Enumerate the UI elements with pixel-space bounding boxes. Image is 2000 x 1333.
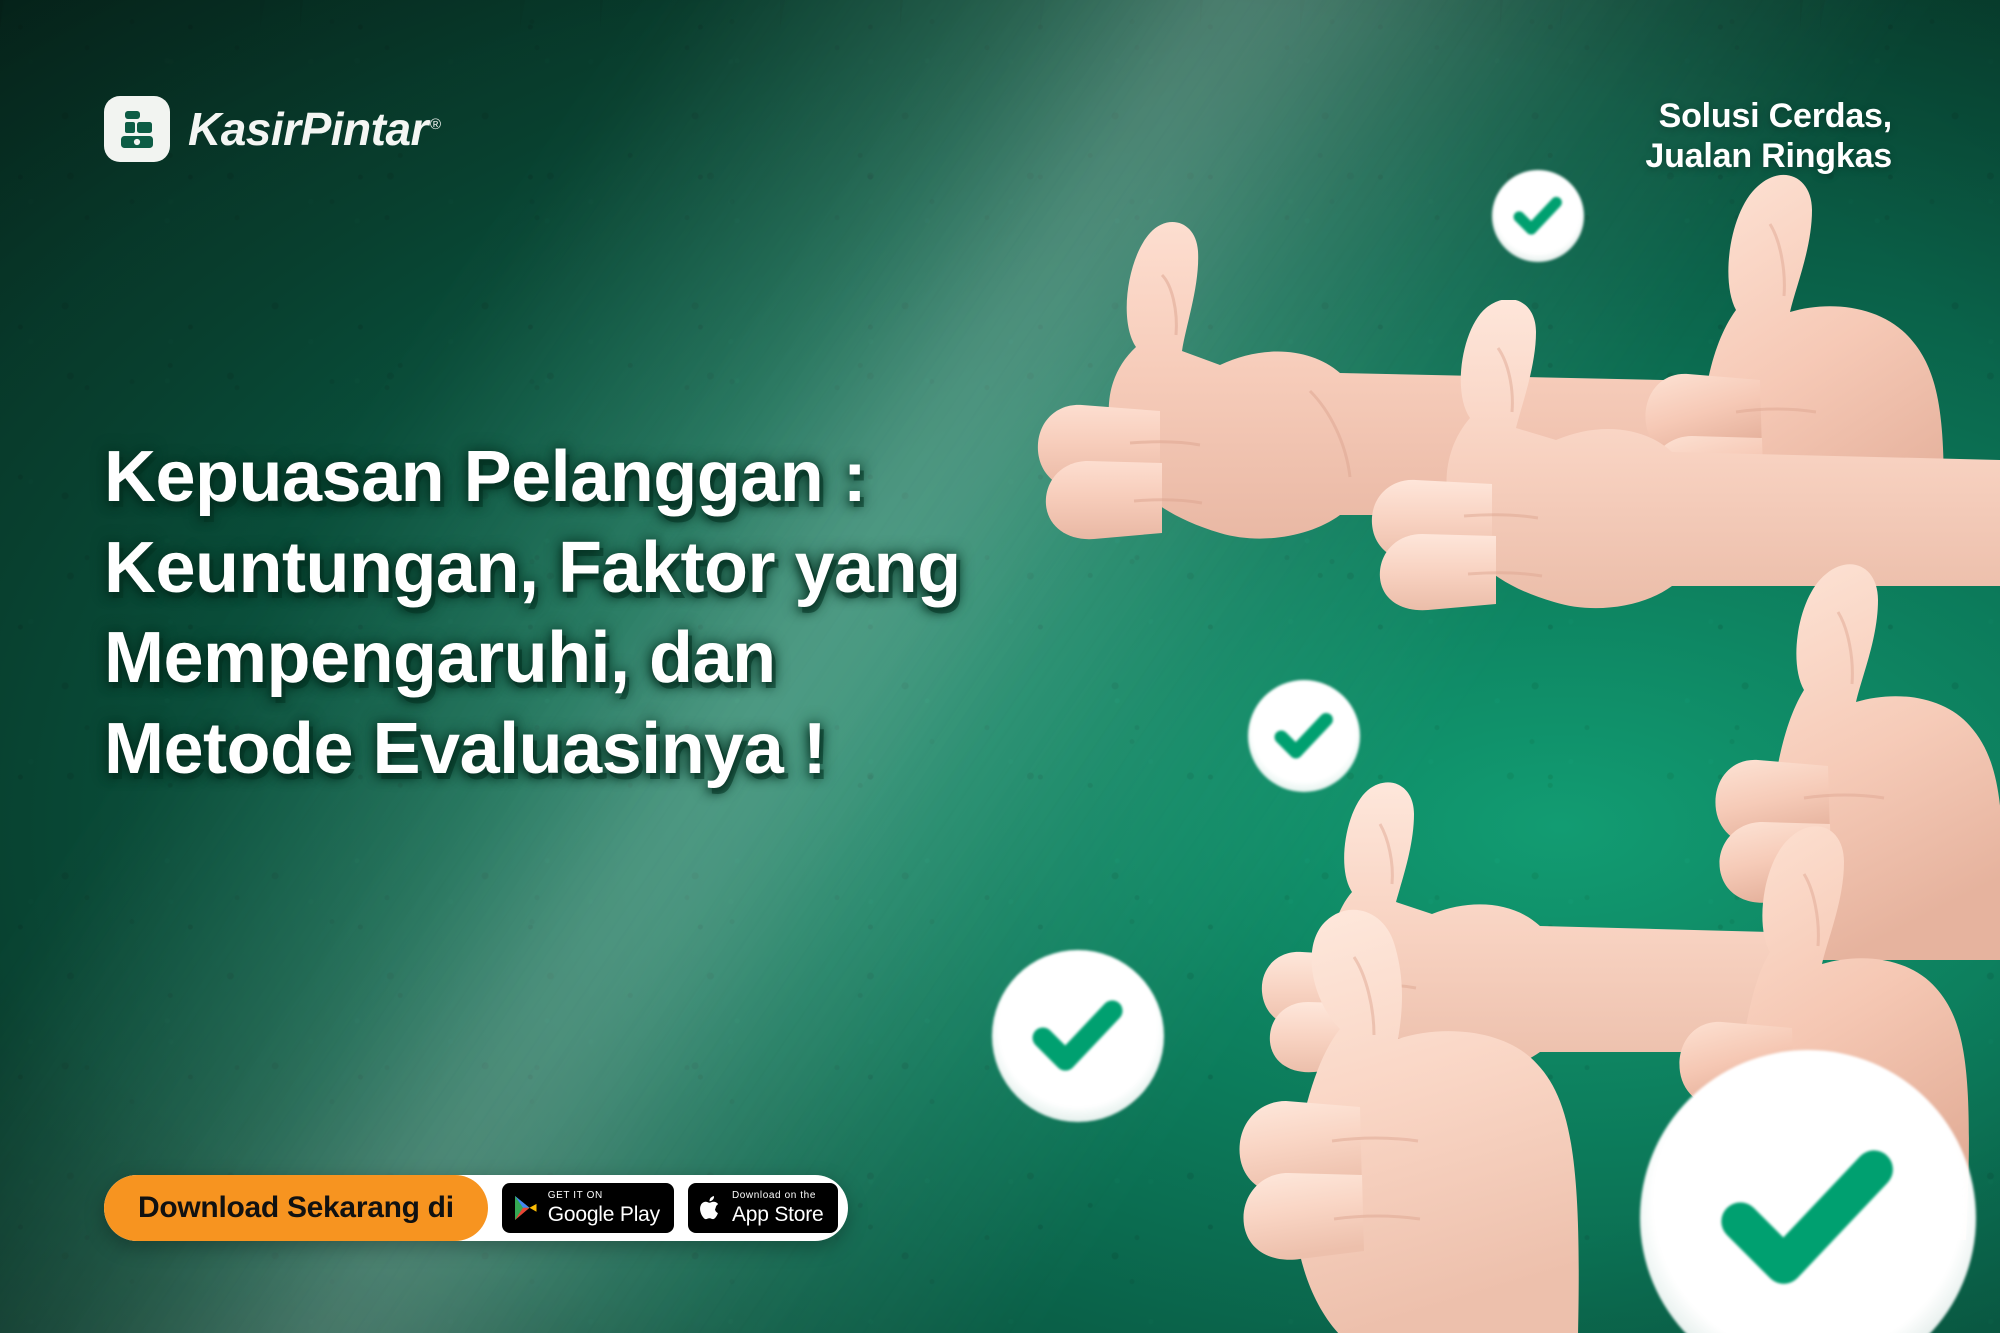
app-store-small-text: Download on the [732, 1191, 824, 1201]
tagline: Solusi Cerdas, Jualan Ringkas [1645, 96, 1892, 176]
google-play-icon [513, 1194, 539, 1222]
headline-line-2: Keuntungan, Faktor yang [104, 523, 1284, 614]
check-badge-top [1492, 170, 1584, 262]
headline-line-1: Kepuasan Pelanggan : [104, 432, 1284, 523]
headline-line-4: Metode Evaluasinya ! [104, 704, 1284, 795]
check-icon [1509, 187, 1567, 245]
cash-register-icon [104, 96, 170, 162]
download-label-pill: Download Sekarang di [104, 1175, 488, 1241]
headline-line-3: Mempengaruhi, dan [104, 613, 1284, 704]
promotional-banner: KasirPintar® Solusi Cerdas, Jualan Ringk… [0, 0, 2000, 1333]
tagline-line-2: Jualan Ringkas [1645, 136, 1892, 176]
download-label: Download Sekarang di [138, 1191, 454, 1225]
app-store-main-text: App Store [732, 1204, 824, 1225]
google-play-small-text: GET IT ON [548, 1191, 660, 1201]
google-play-button[interactable]: GET IT ON Google Play [502, 1183, 674, 1233]
registered-mark: ® [430, 116, 441, 133]
page-title: Kepuasan Pelanggan : Keuntungan, Faktor … [104, 432, 1284, 795]
tagline-line-1: Solusi Cerdas, [1645, 96, 1892, 136]
brand-logo-label: KasirPintar [188, 103, 428, 155]
app-store-button[interactable]: Download on the App Store [688, 1183, 838, 1233]
brand-logo[interactable]: KasirPintar® [104, 96, 441, 162]
check-icon [1024, 982, 1132, 1090]
google-play-main-text: Google Play [548, 1204, 660, 1225]
download-cta-bar: Download Sekarang di GET IT ON Google Pl… [104, 1175, 848, 1241]
brand-logo-text: KasirPintar® [188, 102, 441, 156]
check-badge-lower-left [992, 950, 1164, 1122]
apple-icon [699, 1194, 723, 1222]
check-icon [1704, 1114, 1912, 1322]
